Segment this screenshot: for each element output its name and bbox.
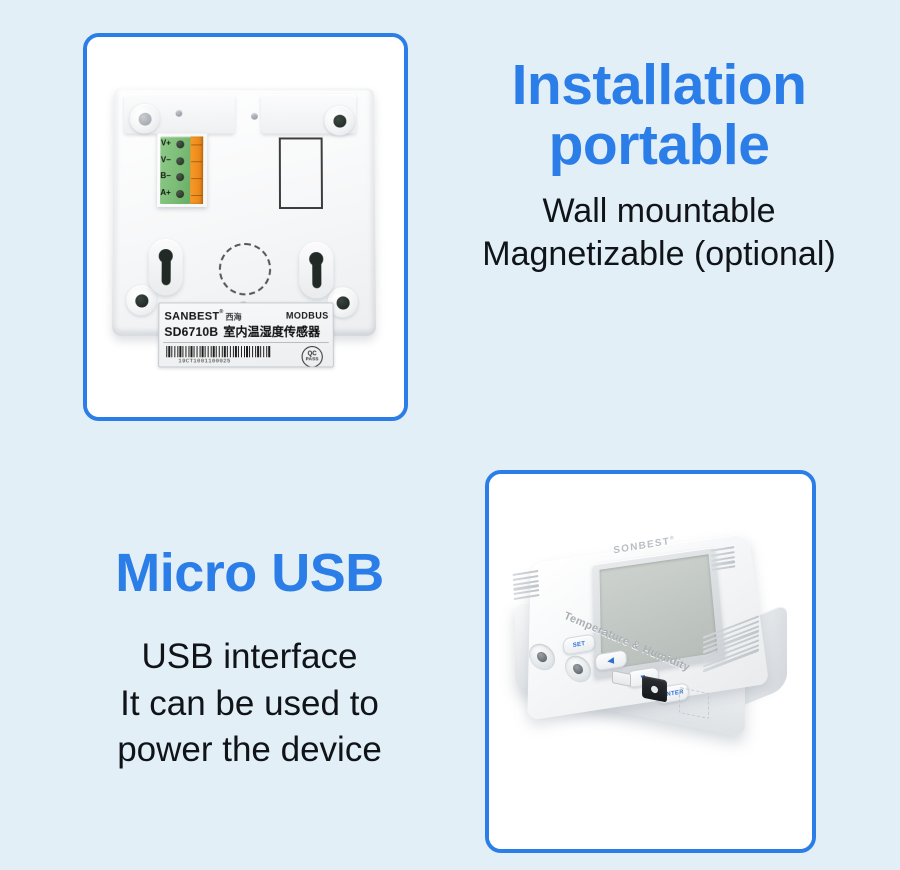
- vent-slots-top-right: [711, 546, 736, 571]
- usb-text-block: Micro USB USB interface It can be used t…: [22, 545, 477, 774]
- qc-stamp-line2: PASS: [306, 358, 319, 363]
- keyhole-slot: [161, 259, 170, 285]
- terminal-lever: [191, 144, 202, 145]
- label-divider: [163, 342, 328, 343]
- usb-sub-line1: USB interface: [22, 634, 477, 681]
- terminal-label-group: V+ V− B− A+: [158, 135, 173, 201]
- barcode-serial: 19CT1001100025: [178, 357, 230, 364]
- installation-sub-line1: Wall mountable: [420, 190, 898, 233]
- label-protocol: MODBUS: [286, 310, 329, 320]
- terminal-label-vplus: V+: [161, 140, 171, 148]
- usb-sub-line2: It can be used to: [22, 681, 477, 728]
- terminal-screw-group: [172, 136, 187, 202]
- usb-sub-line3: power the device: [22, 727, 477, 774]
- terminal-label-bminus: B−: [160, 172, 170, 180]
- installation-sub-line2: Magnetizable (optional): [420, 233, 898, 276]
- installation-text-block: Installation portable Wall mountable Mag…: [420, 55, 898, 275]
- meter-brand-mark: ®: [670, 535, 675, 542]
- qc-pass-stamp: QC PASS: [302, 346, 323, 367]
- desktop-meter-device: SONBEST® Temperature & Humidity SET ◀ ▼ …: [507, 532, 797, 790]
- terminal-screw: [176, 190, 184, 198]
- label-brand: SANBEST: [164, 310, 219, 322]
- vent-slots-left: [512, 570, 539, 600]
- label-brand-cn: 西海: [226, 312, 242, 321]
- photo-frame-installation: V+ V− B− A+: [83, 33, 408, 421]
- label-row-brand: SANBEST®西海 MODBUS: [164, 308, 328, 323]
- terminal-screw: [176, 157, 184, 165]
- label-model-cn: 室内温湿度传感器: [223, 323, 320, 340]
- screw-boss-top-right: [324, 106, 354, 136]
- usb-headline: Micro USB: [22, 545, 477, 602]
- label-model: SD6710B: [164, 324, 218, 338]
- installation-headline-line2: portable: [420, 115, 898, 175]
- terminal-lever: [191, 161, 202, 162]
- keyhole-mount-slot-right: [299, 242, 333, 298]
- circular-snap-cutout: [219, 243, 271, 295]
- label-brand-group: SANBEST®西海: [164, 306, 241, 324]
- screw-dimple-left: [175, 110, 182, 117]
- usb-subtext: USB interface It can be used to power th…: [22, 634, 477, 774]
- terminal-orange-levers: [190, 136, 203, 204]
- product-photo-meter: SONBEST® Temperature & Humidity SET ◀ ▼ …: [489, 474, 812, 849]
- screw-dimple-right: [251, 113, 258, 120]
- terminal-label-aplus: A+: [160, 189, 170, 197]
- sensor-backplate: V+ V− B− A+: [112, 88, 376, 336]
- keyhole-mount-slot-left: [148, 239, 182, 295]
- screw-boss-top-left: [130, 104, 160, 134]
- photo-frame-usb: SONBEST® Temperature & Humidity SET ◀ ▼ …: [485, 470, 816, 853]
- label-row-model: SD6710B 室内温湿度传感器: [164, 323, 328, 340]
- product-label-sticker: SANBEST®西海 MODBUS SD6710B 室内温湿度传感器 19CT1…: [158, 302, 334, 367]
- installation-headline-line1: Installation: [420, 55, 898, 115]
- rectangular-cutout: [279, 137, 323, 209]
- label-brand-mark: ®: [219, 309, 223, 315]
- keyhole-slot: [312, 262, 321, 288]
- label-row-barcode: 19CT1001100025 QC PASS: [164, 345, 329, 365]
- poster-canvas: V+ V− B− A+: [0, 0, 900, 870]
- terminal-lever: [191, 178, 202, 179]
- terminal-block: V+ V− B− A+: [157, 134, 207, 207]
- terminal-lever: [191, 195, 202, 196]
- barcode: [166, 346, 271, 357]
- terminal-screw: [176, 173, 184, 181]
- terminal-screw: [176, 141, 184, 149]
- product-photo-backplate: V+ V− B− A+: [87, 37, 404, 417]
- installation-subtext: Wall mountable Magnetizable (optional): [420, 190, 898, 276]
- terminal-label-vminus: V−: [161, 156, 171, 164]
